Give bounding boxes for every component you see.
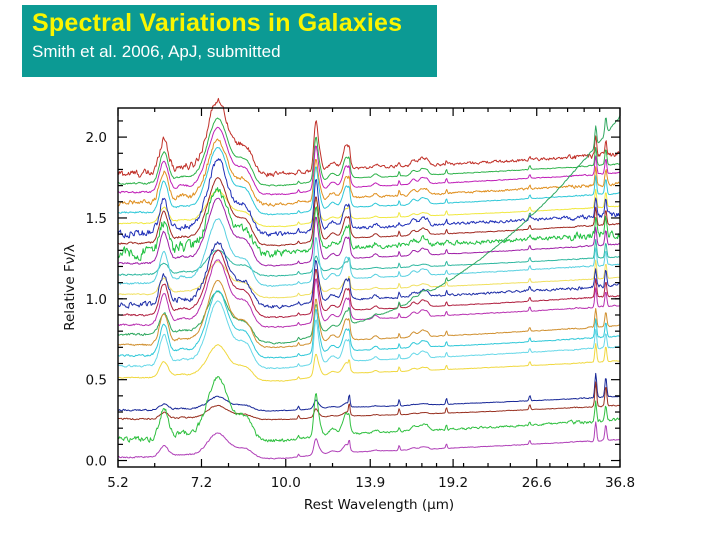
page-subtitle: Smith et al. 2006, ApJ, submitted	[32, 40, 437, 63]
x-tick-label: 7.2	[191, 475, 212, 491]
spectrum-trace	[118, 260, 620, 328]
x-axis-title: Rest Wavelength (μm)	[304, 497, 454, 513]
x-tick-label: 19.2	[438, 475, 468, 491]
spectra-traces	[118, 98, 620, 459]
y-tick-label: 0.5	[86, 373, 107, 389]
y-tick-label: 0.0	[86, 454, 107, 470]
y-tick-label: 2.0	[86, 130, 107, 146]
spectrum-trace	[118, 382, 620, 420]
y-tick-label: 1.0	[86, 292, 107, 308]
title-banner: Spectral Variations in Galaxies Smith et…	[22, 5, 437, 77]
x-tick-label: 10.0	[271, 475, 301, 491]
spectrum-trace	[118, 260, 620, 298]
spectra-plot: 5.27.210.013.919.226.636.80.00.51.01.52.…	[0, 80, 720, 540]
spectrum-trace	[118, 198, 620, 266]
x-tick-label: 13.9	[355, 475, 385, 491]
spectrum-trace	[118, 118, 620, 186]
spectrum-trace	[118, 373, 620, 411]
y-axis-title: Relative Fν/λ	[62, 244, 78, 331]
x-tick-label: 36.8	[605, 475, 635, 491]
spectrum-trace	[118, 344, 620, 382]
x-tick-label: 26.6	[522, 475, 552, 491]
spectrum-trace	[118, 139, 620, 206]
plot-frame	[118, 108, 620, 467]
spectrum-trace	[118, 301, 620, 369]
page-title: Spectral Variations in Galaxies	[32, 7, 437, 40]
spectrum-trace	[118, 250, 620, 318]
spectrum-trace	[118, 127, 620, 195]
spectrum-trace	[118, 422, 620, 459]
y-tick-label: 1.5	[86, 211, 107, 227]
spectrum-trace	[118, 148, 620, 215]
plot-axes	[118, 108, 620, 467]
spectra-figure: 5.27.210.013.919.226.636.80.00.51.01.52.…	[0, 80, 720, 540]
spectrum-trace	[118, 189, 620, 226]
spectrum-trace	[118, 98, 620, 177]
spectrum-trace	[118, 159, 620, 238]
slide-root: Spectral Variations in Galaxies Smith et…	[0, 0, 720, 540]
spectrum-trace	[118, 242, 620, 309]
x-tick-label: 5.2	[107, 475, 128, 491]
